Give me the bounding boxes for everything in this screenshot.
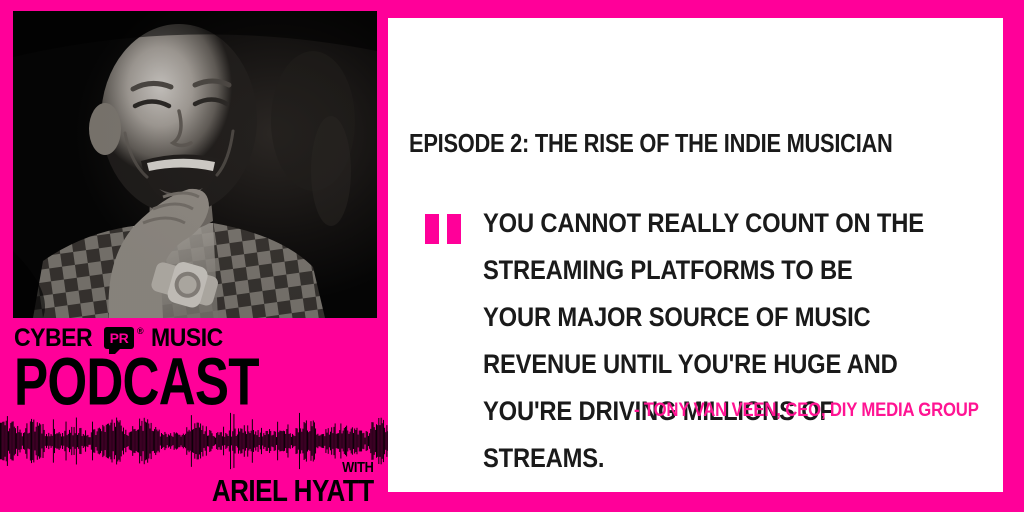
left-panel: CYBER PR ® MUSIC PODCAST WITH ARIEL HYAT… <box>0 0 388 512</box>
episode-title: EPISODE 2: THE RISE OF THE INDIE MUSICIA… <box>409 129 893 157</box>
podcast-logo-lockup: CYBER PR ® MUSIC PODCAST <box>14 325 374 406</box>
quote-bar-right <box>447 214 461 244</box>
quote-attribution: - TONY VAN VEEN, CEO, DIY MEDIA GROUP <box>634 400 979 422</box>
quote-bar-left <box>425 214 439 244</box>
host-credit: WITH ARIEL HYATT <box>181 460 374 506</box>
quote-text: YOU CANNOT REALLY COUNT ON THE STREAMING… <box>483 200 925 482</box>
podcast-quote-card: CYBER PR ® MUSIC PODCAST WITH ARIEL HYAT… <box>0 0 1024 512</box>
quotation-mark-icon <box>425 214 461 244</box>
portrait-illustration <box>13 11 377 318</box>
host-name: ARIEL HYATT <box>212 476 374 506</box>
quote-block: YOU CANNOT REALLY COUNT ON THE STREAMING… <box>425 200 985 482</box>
guest-portrait-photo <box>13 11 377 318</box>
registered-trademark-icon: ® <box>137 327 144 336</box>
quote-card: EPISODE 2: THE RISE OF THE INDIE MUSICIA… <box>388 18 1003 492</box>
